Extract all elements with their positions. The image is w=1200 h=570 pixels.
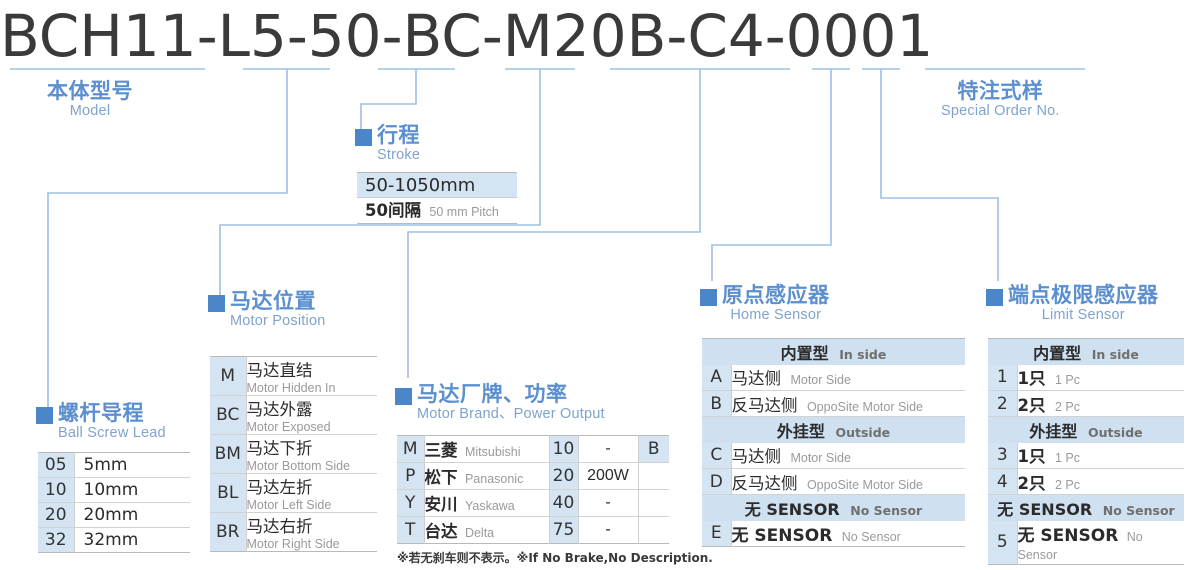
limit-sensor-en: 2 Pc bbox=[1055, 478, 1080, 492]
motor-position-desc: 马达右折 Motor Right Side bbox=[246, 513, 377, 552]
section-stroke-title-en: Stroke bbox=[377, 147, 420, 164]
brake-code: B bbox=[638, 436, 669, 463]
table-row: 2 2只 2 Pc bbox=[988, 391, 1184, 417]
table-row: E 无 SENSOR No Sensor bbox=[702, 521, 965, 547]
home-sensor-desc: 马达侧 Motor Side bbox=[731, 365, 965, 391]
motor-position-code: BR bbox=[210, 513, 246, 552]
group-header-cn: 内置型 bbox=[1033, 344, 1081, 363]
section-model-title-cn: 本体型号 bbox=[47, 80, 133, 103]
table-row: 10 10mm bbox=[38, 478, 190, 503]
table-row: C 马达侧 Motor Side bbox=[702, 443, 965, 469]
section-model-title-en: Model bbox=[47, 103, 133, 120]
limit-sensor-table: 内置型 In side 1 1只 1 Pc 2 2只 2 Pc 外挂型 Outs… bbox=[988, 338, 1184, 565]
section-motor-position-title-en: Motor Position bbox=[230, 313, 325, 330]
limit-sensor-desc: 无 SENSOR No Sensor bbox=[1017, 521, 1184, 565]
limit-sensor-code: 2 bbox=[988, 391, 1017, 417]
limit-sensor-en: 1 Pc bbox=[1055, 451, 1080, 465]
power-value: 200W bbox=[578, 463, 638, 490]
section-home-sensor-title-cn: 原点感应器 bbox=[722, 284, 830, 307]
brand-code: M bbox=[397, 436, 424, 463]
motor-position-cn: 马达外露 bbox=[247, 396, 378, 420]
group-header-cell: 无 SENSOR No Sensor bbox=[988, 495, 1184, 521]
home-sensor-code: B bbox=[702, 391, 731, 417]
home-sensor-cn: 马达侧 bbox=[732, 369, 782, 388]
group-header-en: In side bbox=[1092, 347, 1139, 362]
section-special-order: 特注式样 Special Order No. bbox=[941, 80, 1060, 120]
section-home-sensor-title-en: Home Sensor bbox=[722, 307, 830, 324]
limit-sensor-desc: 2只 2 Pc bbox=[1017, 469, 1184, 495]
limit-sensor-marker-icon bbox=[986, 289, 1003, 306]
group-header-cell: 外挂型 Outside bbox=[988, 417, 1184, 443]
stroke-pitch-cn: 50间隔 bbox=[365, 201, 421, 220]
section-lead-title-cn: 螺杆导程 bbox=[58, 402, 166, 425]
stroke-range-value: 50-1050mm bbox=[357, 172, 517, 198]
power-value: - bbox=[578, 436, 638, 463]
table-group-header: 内置型 In side bbox=[702, 339, 965, 365]
table-group-header: 无 SENSOR No Sensor bbox=[988, 495, 1184, 521]
brand-name: 安川 Yaskawa bbox=[424, 490, 549, 517]
table-row: M 三菱 Mitsubishi 10 - B bbox=[397, 436, 669, 463]
brand-cn: 安川 bbox=[425, 495, 458, 514]
brand-en: Delta bbox=[465, 526, 494, 540]
table-row: D 反马达侧 OppoSite Motor Side bbox=[702, 469, 965, 495]
code-dash-6: - bbox=[765, 2, 786, 70]
limit-sensor-cn: 2只 bbox=[1018, 474, 1046, 493]
motor-position-code: M bbox=[210, 357, 246, 396]
code-dash-3: - bbox=[382, 2, 403, 70]
lead-desc: 32mm bbox=[74, 528, 190, 553]
group-header-en: Outside bbox=[835, 425, 890, 440]
code-segment-stroke: 50 bbox=[308, 2, 382, 70]
table-row: B 反马达侧 OppoSite Motor Side bbox=[702, 391, 965, 417]
motor-position-table: M 马达直结 Motor Hidden In BC 马达外露 Motor Exp… bbox=[210, 356, 377, 552]
table-row: M 马达直结 Motor Hidden In bbox=[210, 357, 377, 396]
section-motor-brand-title-en: Motor Brand、Power Output bbox=[417, 406, 605, 423]
section-ball-screw-lead: 螺杆导程 Ball Screw Lead bbox=[36, 402, 166, 442]
brake-code bbox=[638, 490, 669, 517]
section-motor-position: 马达位置 Motor Position bbox=[208, 290, 325, 330]
brand-cn: 台达 bbox=[425, 522, 458, 541]
section-model: 本体型号 Model bbox=[47, 80, 133, 120]
code-segment-motor-brand: M20B bbox=[503, 2, 667, 70]
limit-sensor-desc: 1只 1 Pc bbox=[1017, 443, 1184, 469]
motor-position-cn: 马达下折 bbox=[247, 435, 378, 459]
limit-sensor-code: 3 bbox=[988, 443, 1017, 469]
table-row: Y 安川 Yaskawa 40 - bbox=[397, 490, 669, 517]
section-special-order-title-en: Special Order No. bbox=[941, 103, 1060, 120]
home-sensor-en: Motor Side bbox=[790, 373, 850, 387]
motor-position-desc: 马达左折 Motor Left Side bbox=[246, 474, 377, 513]
limit-sensor-cn: 2只 bbox=[1018, 396, 1046, 415]
code-segment-lead: L5 bbox=[218, 2, 287, 70]
section-stroke: 行程 Stroke bbox=[355, 124, 420, 164]
code-segment-home-sensor: C bbox=[687, 2, 728, 70]
table-row: 1 1只 1 Pc bbox=[988, 365, 1184, 391]
motor-position-en: Motor Right Side bbox=[247, 537, 378, 551]
stroke-pitch-en: 50 mm Pitch bbox=[429, 205, 498, 219]
group-header-cell: 内置型 In side bbox=[702, 339, 965, 365]
group-header-cn: 内置型 bbox=[781, 344, 829, 363]
table-row: A 马达侧 Motor Side bbox=[702, 365, 965, 391]
brand-name: 台达 Delta bbox=[424, 517, 549, 544]
limit-sensor-en: 1 Pc bbox=[1055, 373, 1080, 387]
home-sensor-code: C bbox=[702, 443, 731, 469]
lead-desc: 5mm bbox=[74, 453, 190, 478]
section-limit-sensor-title-cn: 端点极限感应器 bbox=[1008, 284, 1159, 307]
motor-position-desc: 马达下折 Motor Bottom Side bbox=[246, 435, 377, 474]
table-row: 3 1只 1 Pc bbox=[988, 443, 1184, 469]
motor-position-cn: 马达直结 bbox=[247, 357, 378, 381]
motor-position-en: Motor Left Side bbox=[247, 498, 378, 512]
table-row: BM 马达下折 Motor Bottom Side bbox=[210, 435, 377, 474]
section-lead-title-en: Ball Screw Lead bbox=[58, 425, 166, 442]
home-sensor-code: A bbox=[702, 365, 731, 391]
home-sensor-desc: 反马达侧 OppoSite Motor Side bbox=[731, 391, 965, 417]
table-group-header: 外挂型 Outside bbox=[702, 417, 965, 443]
motor-position-marker-icon bbox=[208, 295, 225, 312]
group-header-cn: 外挂型 bbox=[1029, 422, 1077, 441]
lead-marker-icon bbox=[36, 407, 53, 424]
code-segment-special-order: 0001 bbox=[786, 2, 934, 70]
motor-position-cn: 马达右折 bbox=[247, 513, 378, 537]
table-row: BC 马达外露 Motor Exposed bbox=[210, 396, 377, 435]
home-sensor-en: OppoSite Motor Side bbox=[807, 400, 923, 414]
home-sensor-desc: 反马达侧 OppoSite Motor Side bbox=[731, 469, 965, 495]
brand-en: Panasonic bbox=[465, 472, 523, 486]
stroke-pitch-row: 50间隔 50 mm Pitch bbox=[357, 198, 517, 224]
code-dash-4: - bbox=[482, 2, 503, 70]
brand-code: Y bbox=[397, 490, 424, 517]
table-row: T 台达 Delta 75 - bbox=[397, 517, 669, 544]
power-value: - bbox=[578, 517, 638, 544]
code-segment-limit-sensor: 4 bbox=[728, 2, 765, 70]
group-header-cn: 外挂型 bbox=[777, 422, 825, 441]
lead-code: 32 bbox=[38, 528, 74, 553]
stroke-marker-icon bbox=[355, 129, 372, 146]
table-row: P 松下 Panasonic 20 200W bbox=[397, 463, 669, 490]
power-value: - bbox=[578, 490, 638, 517]
group-header-cell: 内置型 In side bbox=[988, 339, 1184, 365]
stroke-table: 50-1050mm 50间隔 50 mm Pitch bbox=[357, 172, 517, 224]
home-sensor-en: Motor Side bbox=[790, 451, 850, 465]
code-segment-model: BCH11 bbox=[0, 2, 197, 70]
section-limit-sensor-title-en: Limit Sensor bbox=[1008, 307, 1159, 324]
table-row: 5 无 SENSOR No Sensor bbox=[988, 521, 1184, 565]
lead-code: 05 bbox=[38, 453, 74, 478]
brand-name: 三菱 Mitsubishi bbox=[424, 436, 549, 463]
table-row: BL 马达左折 Motor Left Side bbox=[210, 474, 377, 513]
home-sensor-table: 内置型 In side A 马达侧 Motor Side B 反马达侧 Oppo… bbox=[702, 338, 965, 547]
section-motor-position-title-cn: 马达位置 bbox=[230, 290, 325, 313]
brand-en: Yaskawa bbox=[465, 499, 515, 513]
table-row: BR 马达右折 Motor Right Side bbox=[210, 513, 377, 552]
brand-en: Mitsubishi bbox=[465, 445, 521, 459]
lead-code: 20 bbox=[38, 503, 74, 528]
brand-code: P bbox=[397, 463, 424, 490]
motor-brand-marker-icon bbox=[395, 388, 412, 405]
code-dash-2: - bbox=[287, 2, 308, 70]
table-group-header: 内置型 In side bbox=[988, 339, 1184, 365]
lead-desc: 20mm bbox=[74, 503, 190, 528]
section-special-order-title-cn: 特注式样 bbox=[941, 80, 1060, 103]
limit-sensor-cn: 无 SENSOR bbox=[1018, 526, 1119, 546]
home-sensor-desc: 马达侧 Motor Side bbox=[731, 443, 965, 469]
brand-cn: 松下 bbox=[425, 468, 458, 487]
limit-sensor-cn: 1只 bbox=[1018, 369, 1046, 388]
lead-code: 10 bbox=[38, 478, 74, 503]
section-home-sensor: 原点感应器 Home Sensor bbox=[700, 284, 830, 324]
limit-sensor-code: 1 bbox=[988, 365, 1017, 391]
group-header-cn: 无 SENSOR bbox=[745, 500, 840, 519]
table-row: 05 5mm bbox=[38, 453, 190, 478]
table-group-header: 外挂型 Outside bbox=[988, 417, 1184, 443]
group-header-en: Outside bbox=[1088, 425, 1143, 440]
home-sensor-cn: 马达侧 bbox=[732, 447, 782, 466]
code-segment-motor-position: BC bbox=[403, 2, 482, 70]
table-row: 20 20mm bbox=[38, 503, 190, 528]
motor-position-en: Motor Bottom Side bbox=[247, 459, 378, 473]
motor-position-desc: 马达外露 Motor Exposed bbox=[246, 396, 377, 435]
power-code: 75 bbox=[549, 517, 578, 544]
group-header-cn: 无 SENSOR bbox=[997, 500, 1092, 519]
home-sensor-en: No Sensor bbox=[842, 530, 901, 544]
table-row: 32 32mm bbox=[38, 528, 190, 553]
home-sensor-desc: 无 SENSOR No Sensor bbox=[731, 521, 965, 547]
home-sensor-code: D bbox=[702, 469, 731, 495]
power-code: 40 bbox=[549, 490, 578, 517]
motor-position-code: BM bbox=[210, 435, 246, 474]
group-header-en: No Sensor bbox=[850, 503, 922, 518]
lead-desc: 10mm bbox=[74, 478, 190, 503]
brake-code bbox=[638, 517, 669, 544]
home-sensor-cn: 反马达侧 bbox=[732, 474, 798, 493]
motor-brake-note-cn: ※若无刹车则不表示。 bbox=[397, 551, 517, 565]
code-dash-1: - bbox=[197, 2, 218, 70]
motor-position-en: Motor Hidden In bbox=[247, 381, 378, 395]
limit-sensor-desc: 1只 1 Pc bbox=[1017, 365, 1184, 391]
motor-brake-note-en: ※If No Brake,No Description. bbox=[517, 551, 713, 565]
home-sensor-code: E bbox=[702, 521, 731, 547]
home-sensor-cn: 无 SENSOR bbox=[732, 526, 833, 546]
home-sensor-cn: 反马达侧 bbox=[732, 396, 798, 415]
brake-code bbox=[638, 463, 669, 490]
motor-brake-note: ※若无刹车则不表示。※If No Brake,No Description. bbox=[397, 549, 713, 566]
limit-sensor-cn: 1只 bbox=[1018, 447, 1046, 466]
table-row: 4 2只 2 Pc bbox=[988, 469, 1184, 495]
section-motor-brand-title-cn: 马达厂牌、功率 bbox=[417, 383, 605, 406]
power-code: 20 bbox=[549, 463, 578, 490]
section-stroke-title-cn: 行程 bbox=[377, 124, 420, 147]
home-sensor-en: OppoSite Motor Side bbox=[807, 478, 923, 492]
motor-position-code: BC bbox=[210, 396, 246, 435]
group-header-en: No Sensor bbox=[1103, 503, 1175, 518]
limit-sensor-desc: 2只 2 Pc bbox=[1017, 391, 1184, 417]
motor-position-code: BL bbox=[210, 474, 246, 513]
code-dash-5: - bbox=[666, 2, 687, 70]
section-limit-sensor: 端点极限感应器 Limit Sensor bbox=[986, 284, 1159, 324]
brand-cn: 三菱 bbox=[425, 441, 458, 460]
motor-position-desc: 马达直结 Motor Hidden In bbox=[246, 357, 377, 396]
home-sensor-marker-icon bbox=[700, 289, 717, 306]
table-group-header: 无 SENSOR No Sensor bbox=[702, 495, 965, 521]
group-header-en: In side bbox=[839, 347, 886, 362]
group-header-cell: 无 SENSOR No Sensor bbox=[702, 495, 965, 521]
ball-screw-lead-table: 05 5mm 10 10mm 20 20mm 32 32mm bbox=[38, 452, 190, 553]
limit-sensor-code: 4 bbox=[988, 469, 1017, 495]
group-header-cell: 外挂型 Outside bbox=[702, 417, 965, 443]
brand-name: 松下 Panasonic bbox=[424, 463, 549, 490]
product-code: BCH11-L5-50-BC-M20B-C4-0001 bbox=[0, 2, 1200, 64]
motor-position-en: Motor Exposed bbox=[247, 420, 378, 434]
limit-sensor-en: 2 Pc bbox=[1055, 400, 1080, 414]
brand-code: T bbox=[397, 517, 424, 544]
power-code: 10 bbox=[549, 436, 578, 463]
limit-sensor-code: 5 bbox=[988, 521, 1017, 565]
motor-position-cn: 马达左折 bbox=[247, 474, 378, 498]
motor-brand-table: M 三菱 Mitsubishi 10 - B P 松下 Panasonic 20… bbox=[397, 435, 669, 544]
section-motor-brand: 马达厂牌、功率 Motor Brand、Power Output bbox=[395, 383, 605, 423]
